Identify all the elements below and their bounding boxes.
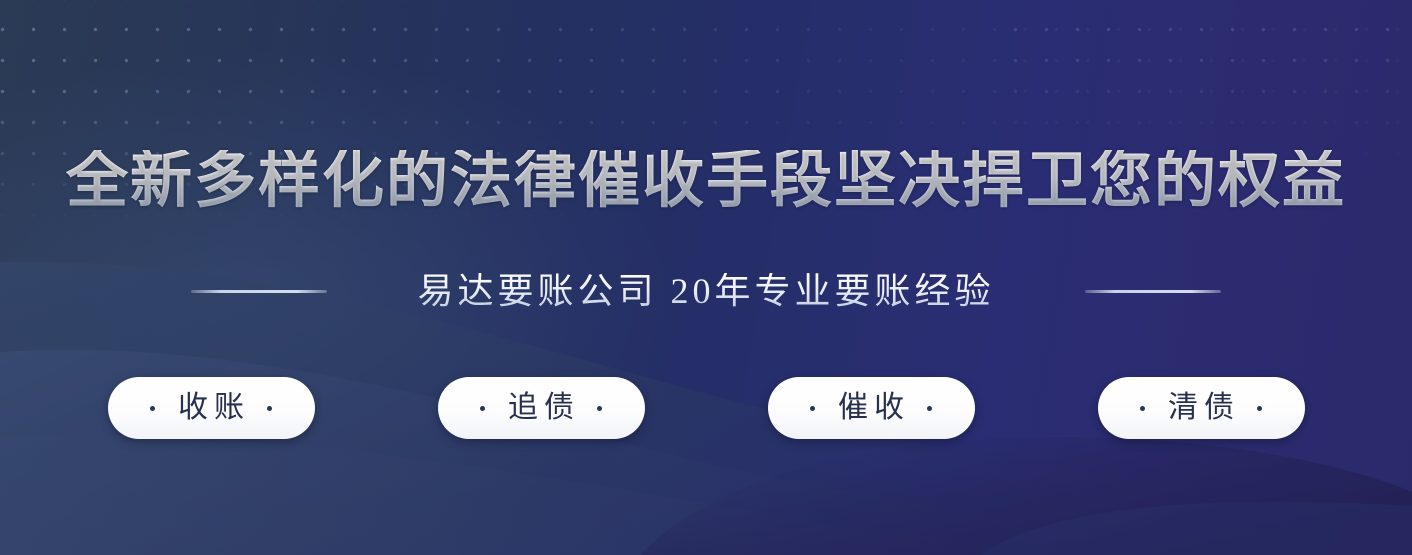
bullet-dot-icon [1140, 406, 1145, 411]
right-decorative-rule [1085, 290, 1221, 293]
service-pill-label: 收账 [172, 393, 250, 423]
left-decorative-rule [191, 290, 327, 293]
service-pill-group: 收账 追债 催收 清债 [0, 377, 1412, 439]
service-pill-label: 追债 [502, 393, 580, 423]
service-pill-cuishou[interactable]: 催收 [768, 377, 975, 439]
bullet-dot-icon [480, 406, 485, 411]
bullet-dot-icon [597, 406, 602, 411]
bullet-dot-icon [927, 406, 932, 411]
service-pill-label: 催收 [832, 393, 910, 423]
subtitle-row: 易达要账公司 20年专业要账经验 [0, 266, 1412, 316]
service-pill-label: 清债 [1162, 393, 1240, 423]
bullet-dot-icon [267, 406, 272, 411]
bullet-dot-icon [150, 406, 155, 411]
promo-banner: 全新多样化的法律催收手段坚决捍卫您的权益 易达要账公司 20年专业要账经验 收账… [0, 0, 1412, 555]
service-pill-zhuizhai[interactable]: 追债 [438, 377, 645, 439]
service-pill-qingzhai[interactable]: 清债 [1098, 377, 1305, 439]
bullet-dot-icon [810, 406, 815, 411]
banner-subtitle: 易达要账公司 20年专业要账经验 [417, 273, 994, 309]
service-pill-shouzhang[interactable]: 收账 [108, 377, 315, 439]
banner-content: 全新多样化的法律催收手段坚决捍卫您的权益 易达要账公司 20年专业要账经验 收账… [0, 0, 1412, 555]
bullet-dot-icon [1257, 406, 1262, 411]
banner-headline: 全新多样化的法律催收手段坚决捍卫您的权益 [0, 150, 1412, 212]
